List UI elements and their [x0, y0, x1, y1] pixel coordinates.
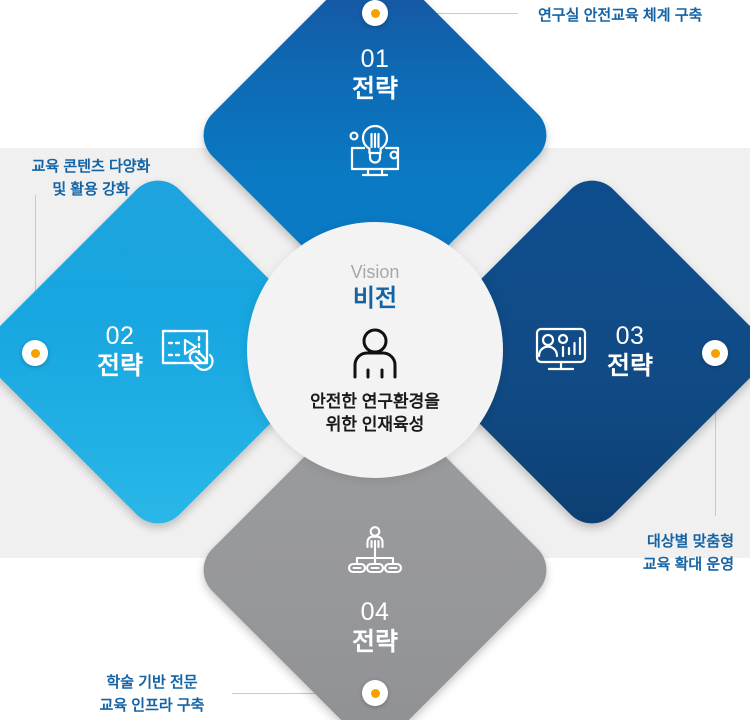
connector-dot-right[interactable]: [702, 340, 728, 366]
callout-strategy-02: 교육 콘텐츠 다양화 및 활용 강화: [16, 155, 166, 202]
callout-strategy-04: 학술 기반 전문 교육 인프라 구축: [78, 671, 226, 718]
connector-dot-bottom[interactable]: [362, 680, 388, 706]
vision-circle[interactable]: Vision 비전 안전한 연구환경을 위한 인재육성: [247, 222, 503, 478]
person-icon: [348, 328, 402, 385]
vision-label-ko: 비전: [353, 285, 397, 314]
connector-dot-left[interactable]: [22, 340, 48, 366]
callout-strategy-01: 연구실 안전교육 체계 구축: [538, 4, 702, 27]
connector-dot-top[interactable]: [362, 0, 388, 26]
vision-description: 안전한 연구환경을 위한 인재육성: [310, 391, 440, 437]
vision-label-en: Vision: [351, 263, 400, 283]
diagram-canvas: 02 전략: [0, 0, 750, 720]
callout-strategy-03: 대상별 맞춤형 교육 확대 운영: [612, 530, 734, 577]
